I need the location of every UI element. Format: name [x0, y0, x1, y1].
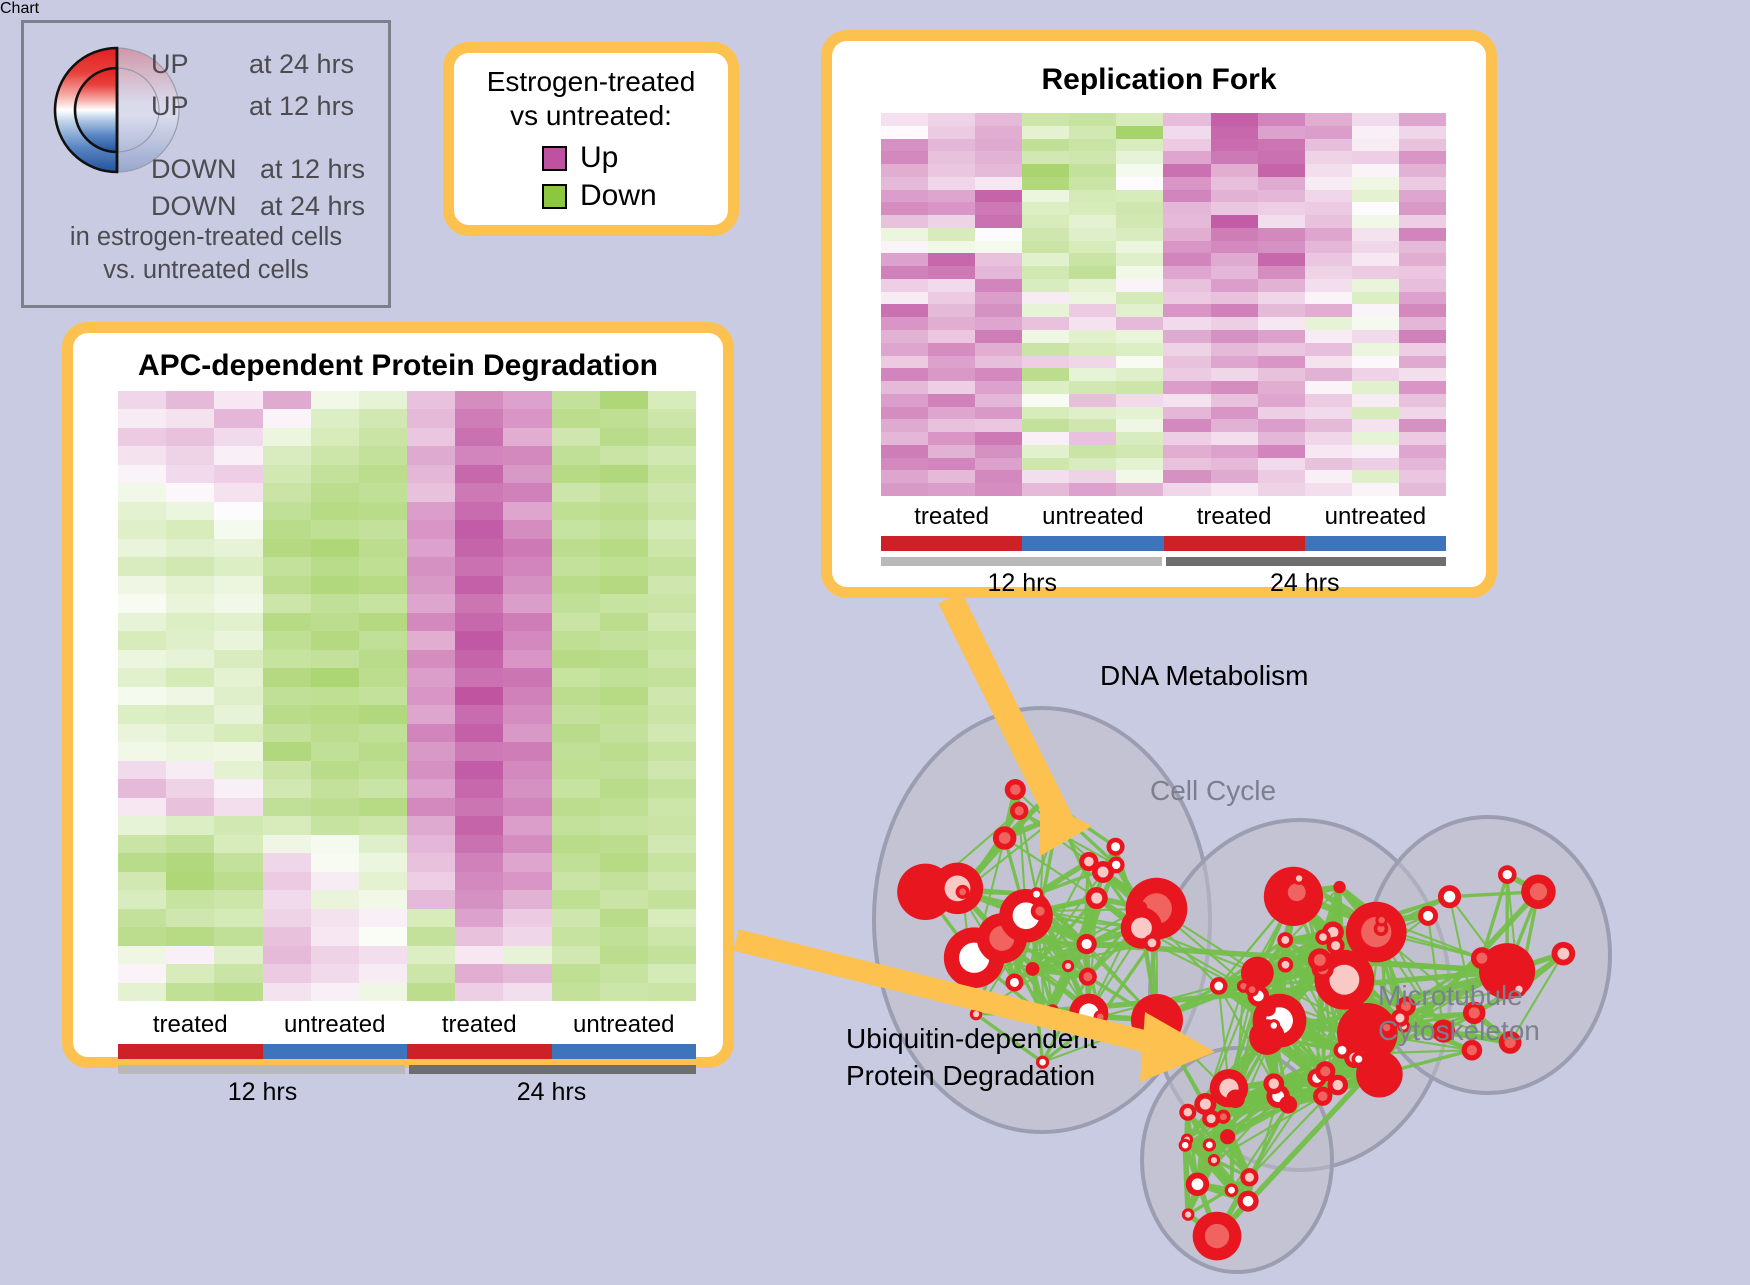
- heatmap-cell: [881, 317, 928, 330]
- heatmap-cell: [600, 779, 648, 797]
- heatmap-cell: [1305, 381, 1352, 394]
- heatmap-cell: [648, 761, 696, 779]
- key-panel-title: Estrogen-treated vs untreated:: [454, 65, 728, 133]
- heatmap-cell: [311, 909, 359, 927]
- heatmap-cell: [1069, 419, 1116, 432]
- heatmap-cell: [1305, 407, 1352, 420]
- heatmap-cell: [881, 407, 928, 420]
- key-item-down: Down: [542, 179, 657, 213]
- heatmap-cell: [311, 613, 359, 631]
- heatmap-cell: [263, 853, 311, 871]
- heatmap-cell: [503, 594, 551, 612]
- heatmap-cell: [881, 266, 928, 279]
- heatmap-cell: [311, 872, 359, 890]
- heatmap-time-label: 24 hrs: [407, 1078, 696, 1107]
- heatmap-cell: [118, 816, 166, 834]
- heatmap-cell: [1069, 126, 1116, 139]
- heatmap-cell: [118, 909, 166, 927]
- heatmap-cell: [1163, 330, 1210, 343]
- heatmap-cell: [455, 983, 503, 1001]
- heatmap-cell: [600, 872, 648, 890]
- key-item-up: Up: [542, 141, 618, 175]
- heatmap-time-label: 24 hrs: [1164, 569, 1447, 598]
- heatmap-cell: [503, 483, 551, 501]
- heatmap-cell: [1116, 177, 1163, 190]
- heatmap-cell: [975, 241, 1022, 254]
- heatmap-cell: [1305, 202, 1352, 215]
- legend-footer-line1: in estrogen-treated cells: [24, 221, 388, 254]
- heatmap-cell: [600, 483, 648, 501]
- heatmap-cell: [1258, 470, 1305, 483]
- heatmap-cell: [552, 557, 600, 575]
- heatmap-cell: [359, 779, 407, 797]
- network-node[interactable]: [1521, 874, 1556, 909]
- heatmap-cell: [928, 343, 975, 356]
- heatmap-cell: [1258, 445, 1305, 458]
- network-node[interactable]: [970, 1008, 983, 1021]
- heatmap-cell: [1258, 343, 1305, 356]
- heatmap-cell: [552, 483, 600, 501]
- heatmap-cell: [648, 853, 696, 871]
- heatmap-cell: [263, 724, 311, 742]
- heatmap-cell: [1163, 139, 1210, 152]
- legend-key-up-24: UP: [151, 49, 189, 80]
- heatmap-cell: [1163, 419, 1210, 432]
- network-node[interactable]: [1471, 947, 1493, 969]
- heatmap-cell: [503, 576, 551, 594]
- legend-footer-line2: vs. untreated cells: [24, 254, 388, 287]
- heatmap-cell: [1352, 190, 1399, 203]
- heatmap-cell: [600, 409, 648, 427]
- heatmap-cell: [311, 798, 359, 816]
- heatmap-cell: [552, 594, 600, 612]
- heatmap-cell: [166, 428, 214, 446]
- heatmap-cell: [166, 890, 214, 908]
- heatmap-cell: [1352, 407, 1399, 420]
- heatmap-cell: [928, 381, 975, 394]
- heatmap-cell: [1069, 356, 1116, 369]
- heatmap-cell: [455, 816, 503, 834]
- heatmap-cell: [359, 761, 407, 779]
- network-node[interactable]: [1279, 1096, 1297, 1114]
- heatmap-cell: [600, 687, 648, 705]
- heatmap-cell: [118, 650, 166, 668]
- heatmap-cell: [1211, 458, 1258, 471]
- heatmap-cell: [311, 853, 359, 871]
- heatmap-cell: [1022, 164, 1069, 177]
- heatmap-cell: [1258, 317, 1305, 330]
- heatmap-cell: [1211, 151, 1258, 164]
- heatmap-cell: [214, 391, 262, 409]
- network-node[interactable]: [1086, 887, 1108, 909]
- network-node[interactable]: [1026, 962, 1040, 976]
- heatmap-cell: [975, 253, 1022, 266]
- heatmap-cell: [311, 594, 359, 612]
- heatmap-cell: [359, 798, 407, 816]
- heatmap-cell: [1211, 266, 1258, 279]
- heatmap-cell: [1399, 215, 1446, 228]
- heatmap-cell: [928, 394, 975, 407]
- heatmap-cell: [552, 835, 600, 853]
- heatmap-cell: [1211, 317, 1258, 330]
- heatmap-cell: [503, 927, 551, 945]
- heatmap-cell: [1399, 343, 1446, 356]
- heatmap-cell: [1399, 330, 1446, 343]
- network-node[interactable]: [1333, 881, 1345, 893]
- heatmap-cell: [1116, 432, 1163, 445]
- heatmap-cell: [214, 853, 262, 871]
- heatmap-treatment-bar: [407, 1044, 552, 1059]
- network-node[interactable]: [1203, 1138, 1216, 1151]
- network-node[interactable]: [1005, 779, 1026, 800]
- heatmap-cell: [503, 798, 551, 816]
- network-node[interactable]: [1048, 806, 1068, 826]
- network-node[interactable]: [1225, 1183, 1239, 1197]
- network-node[interactable]: [1308, 948, 1332, 972]
- heatmap-cell: [648, 742, 696, 760]
- heatmap-cell: [1116, 113, 1163, 126]
- heatmap-cell: [263, 798, 311, 816]
- heatmap-cell: [1399, 177, 1446, 190]
- heatmap-cell: [455, 409, 503, 427]
- network-node[interactable]: [1193, 1212, 1242, 1261]
- heatmap-cell: [359, 668, 407, 686]
- heatmap-cell: [975, 394, 1022, 407]
- heatmap-cell: [455, 391, 503, 409]
- key-panel-title-line1: Estrogen-treated: [454, 65, 728, 99]
- heatmap-cell: [359, 613, 407, 631]
- heatmap-cell: [881, 292, 928, 305]
- heatmap-cell: [600, 631, 648, 649]
- heatmap-cell: [118, 779, 166, 797]
- heatmap-cell: [503, 779, 551, 797]
- heatmap-cell: [118, 724, 166, 742]
- heatmap-time-bar: [118, 1065, 405, 1074]
- heatmap-cell: [552, 539, 600, 557]
- heatmap-cell: [600, 557, 648, 575]
- heatmap-cell: [1163, 368, 1210, 381]
- network-node[interactable]: [1498, 865, 1517, 884]
- network-node[interactable]: [1226, 1089, 1245, 1108]
- heatmap-cell: [1116, 330, 1163, 343]
- heatmap-cell: [928, 419, 975, 432]
- heatmap-cell: [881, 215, 928, 228]
- heatmap-cell: [118, 428, 166, 446]
- cluster-label-microtubule-cytoskeleton: Microtubule Cytoskeleton: [1378, 978, 1540, 1048]
- network-node[interactable]: [1210, 977, 1228, 995]
- network-node[interactable]: [1079, 968, 1097, 986]
- heatmap-cell: [1163, 458, 1210, 471]
- network-node[interactable]: [1238, 1191, 1259, 1212]
- heatmap-cell: [455, 687, 503, 705]
- heatmap-cell: [1069, 164, 1116, 177]
- heatmap-cell: [407, 853, 455, 871]
- heatmap-cell: [928, 356, 975, 369]
- cluster-label-ubiquitin-degradation: Ubiquitin-dependent Protein Degradation: [846, 1020, 1097, 1094]
- heatmap-cell: [600, 724, 648, 742]
- network-node[interactable]: [1179, 1139, 1192, 1152]
- heatmap-cell: [263, 890, 311, 908]
- network-node[interactable]: [1267, 1019, 1280, 1032]
- heatmap-cell: [1399, 470, 1446, 483]
- key-item-down-label: Down: [580, 179, 657, 213]
- heatmap-cell: [1211, 483, 1258, 496]
- heatmap-cell: [263, 557, 311, 575]
- heatmap-cell: [552, 798, 600, 816]
- heatmap-cell: [1022, 228, 1069, 241]
- heatmap-cell: [359, 983, 407, 1001]
- heatmap-cell: [1116, 458, 1163, 471]
- heatmap-cell: [263, 483, 311, 501]
- heatmap-cell: [214, 724, 262, 742]
- heatmap-cell: [1116, 164, 1163, 177]
- network-node[interactable]: [1038, 792, 1053, 807]
- network-node[interactable]: [1092, 861, 1114, 883]
- heatmap-cell: [311, 983, 359, 1001]
- heatmap-cell: [1399, 407, 1446, 420]
- heatmap-cell: [166, 724, 214, 742]
- heatmap-cell: [455, 927, 503, 945]
- heatmap-cell: [552, 964, 600, 982]
- heatmap-cell: [1022, 419, 1069, 432]
- heatmap-cell: [1258, 458, 1305, 471]
- apc-group-labels: treateduntreatedtreateduntreated: [118, 1011, 696, 1039]
- network-node[interactable]: [1352, 1052, 1366, 1066]
- heatmap-cell: [600, 520, 648, 538]
- heatmap-cell: [1163, 241, 1210, 254]
- heatmap-cell: [600, 576, 648, 594]
- heatmap-cell: [600, 613, 648, 631]
- network-node[interactable]: [1552, 942, 1576, 966]
- network-node[interactable]: [1062, 960, 1074, 972]
- heatmap-cell: [975, 202, 1022, 215]
- replication-fork-time-labels: 12 hrs24 hrs: [881, 569, 1446, 598]
- network-node[interactable]: [1182, 1208, 1195, 1221]
- legend-key-down-12: DOWN: [151, 154, 236, 185]
- heatmap-cell: [263, 631, 311, 649]
- heatmap-cell: [214, 446, 262, 464]
- heatmap-cell: [1305, 292, 1352, 305]
- heatmap-cell: [975, 164, 1022, 177]
- heatmap-cell: [118, 927, 166, 945]
- heatmap-cell: [1352, 164, 1399, 177]
- heatmap-cell: [881, 202, 928, 215]
- heatmap-cell: [881, 356, 928, 369]
- heatmap-cell: [552, 391, 600, 409]
- heatmap-cell: [600, 798, 648, 816]
- heatmap-cell: [455, 668, 503, 686]
- heatmap-cell: [503, 391, 551, 409]
- network-node[interactable]: [1375, 914, 1388, 927]
- network-node[interactable]: [1438, 885, 1461, 908]
- heatmap-cell: [311, 687, 359, 705]
- heatmap-cell: [503, 613, 551, 631]
- heatmap-cell: [311, 964, 359, 982]
- heatmap-cell: [166, 502, 214, 520]
- heatmap-cell: [928, 202, 975, 215]
- heatmap-cell: [214, 428, 262, 446]
- heatmap-cell: [118, 946, 166, 964]
- heatmap-cell: [928, 432, 975, 445]
- heatmap-cell: [359, 539, 407, 557]
- heatmap-cell: [455, 853, 503, 871]
- heatmap-cell: [1399, 432, 1446, 445]
- network-node[interactable]: [1208, 1154, 1220, 1166]
- network-node[interactable]: [1334, 1042, 1351, 1059]
- heatmap-cell: [1116, 317, 1163, 330]
- heatmap-cell: [455, 428, 503, 446]
- heatmap-cell: [1022, 215, 1069, 228]
- heatmap-cell: [648, 816, 696, 834]
- heatmap-cell: [1211, 215, 1258, 228]
- heatmap-cell: [407, 705, 455, 723]
- network-node[interactable]: [1076, 934, 1096, 954]
- network-node[interactable]: [1277, 932, 1293, 948]
- heatmap-cell: [881, 177, 928, 190]
- heatmap-cell: [1163, 126, 1210, 139]
- network-node[interactable]: [1327, 1075, 1348, 1096]
- heatmap-cell: [881, 432, 928, 445]
- heatmap-cell: [1116, 368, 1163, 381]
- network-node[interactable]: [1220, 1129, 1235, 1144]
- heatmap-cell: [1069, 330, 1116, 343]
- heatmap-cell: [1116, 292, 1163, 305]
- heatmap-cell: [1069, 241, 1116, 254]
- heatmap-cell: [1022, 470, 1069, 483]
- heatmap-cell: [214, 872, 262, 890]
- network-node[interactable]: [1179, 1104, 1196, 1121]
- network-node[interactable]: [1046, 1004, 1059, 1017]
- heatmap-cell: [552, 927, 600, 945]
- heatmap-cell: [881, 458, 928, 471]
- heatmap-cell: [1163, 445, 1210, 458]
- network-node[interactable]: [1245, 983, 1259, 997]
- heatmap-cell: [1258, 432, 1305, 445]
- heatmap-cell: [648, 705, 696, 723]
- heatmap-cell: [1399, 164, 1446, 177]
- heatmap-cell: [975, 407, 1022, 420]
- heatmap-cell: [1211, 356, 1258, 369]
- heatmap-cell: [359, 391, 407, 409]
- heatmap-cell: [600, 816, 648, 834]
- network-node[interactable]: [1278, 957, 1294, 973]
- network-node[interactable]: [1202, 1110, 1220, 1128]
- network-node[interactable]: [1293, 872, 1306, 885]
- heatmap-cell: [118, 687, 166, 705]
- heatmap-cell: [1116, 139, 1163, 152]
- network-node[interactable]: [1263, 1073, 1284, 1094]
- heatmap-cell: [648, 520, 696, 538]
- heatmap-cell: [552, 724, 600, 742]
- heatmap-cell: [166, 946, 214, 964]
- heatmap-cell: [359, 502, 407, 520]
- heatmap-cell: [118, 872, 166, 890]
- heatmap-cell: [118, 446, 166, 464]
- heatmap-cell: [455, 761, 503, 779]
- heatmap-cell: [600, 428, 648, 446]
- heatmap-cell: [648, 502, 696, 520]
- heatmap-cell: [975, 381, 1022, 394]
- heatmap-cell: [311, 890, 359, 908]
- heatmap-cell: [552, 983, 600, 1001]
- legend-key-up-12: UP: [151, 91, 189, 122]
- heatmap-cell: [311, 742, 359, 760]
- network-node[interactable]: [1107, 838, 1125, 856]
- heatmap-cell: [359, 927, 407, 945]
- heatmap-cell: [166, 446, 214, 464]
- heatmap-cell: [648, 613, 696, 631]
- network-node[interactable]: [1186, 1173, 1209, 1196]
- heatmap-cell: [1116, 279, 1163, 292]
- heatmap-cell: [1352, 458, 1399, 471]
- heatmap-cell: [1352, 202, 1399, 215]
- network-node[interactable]: [1240, 1168, 1258, 1186]
- heatmap-cell: [407, 909, 455, 927]
- heatmap-cell: [881, 470, 928, 483]
- network-node[interactable]: [1005, 973, 1023, 991]
- heatmap-cell: [1305, 228, 1352, 241]
- heatmap-cell: [503, 446, 551, 464]
- heatmap-cell: [975, 177, 1022, 190]
- heatmap-cell: [1305, 215, 1352, 228]
- heatmap-cell: [881, 394, 928, 407]
- heatmap-cell: [552, 909, 600, 927]
- heatmap-cell: [552, 650, 600, 668]
- heatmap-cell: [1352, 445, 1399, 458]
- heatmap-cell: [407, 964, 455, 982]
- network-node[interactable]: [1418, 906, 1438, 926]
- heatmap-cell: [881, 241, 928, 254]
- network-node[interactable]: [956, 885, 970, 899]
- heatmap-cell: [407, 816, 455, 834]
- heatmap-cell: [1163, 483, 1210, 496]
- heatmap-cell: [1022, 368, 1069, 381]
- heatmap-cell: [455, 631, 503, 649]
- heatmap-cell: [1211, 381, 1258, 394]
- heatmap-cell: [1022, 279, 1069, 292]
- network-node[interactable]: [1010, 802, 1028, 820]
- heatmap-cell: [552, 687, 600, 705]
- heatmap-cell: [118, 557, 166, 575]
- heatmap-cell: [552, 853, 600, 871]
- network-node[interactable]: [993, 826, 1017, 850]
- network-node[interactable]: [1143, 934, 1160, 951]
- heatmap-cell: [118, 835, 166, 853]
- heatmap-cell: [263, 816, 311, 834]
- heatmap-cell: [166, 816, 214, 834]
- heatmap-cell: [1399, 202, 1446, 215]
- network-node[interactable]: [1030, 887, 1044, 901]
- heatmap-cell: [1399, 241, 1446, 254]
- heatmap-cell: [1305, 266, 1352, 279]
- heatmap-cell: [1116, 202, 1163, 215]
- network-node[interactable]: [1131, 994, 1183, 1046]
- heatmap-cell: [1352, 292, 1399, 305]
- heatmap-cell: [1163, 190, 1210, 203]
- heatmap-cell: [166, 594, 214, 612]
- network-node[interactable]: [1315, 929, 1330, 944]
- network-node[interactable]: [1135, 901, 1147, 913]
- heatmap-cell: [407, 927, 455, 945]
- network-node[interactable]: [1031, 902, 1050, 921]
- heatmap-cell: [1258, 241, 1305, 254]
- heatmap-cell: [1305, 343, 1352, 356]
- heatmap-cell: [1399, 356, 1446, 369]
- heatmap-cell: [214, 890, 262, 908]
- heatmap-time-bar: [1166, 557, 1447, 566]
- heatmap-cell: [407, 779, 455, 797]
- heatmap-cell: [1399, 483, 1446, 496]
